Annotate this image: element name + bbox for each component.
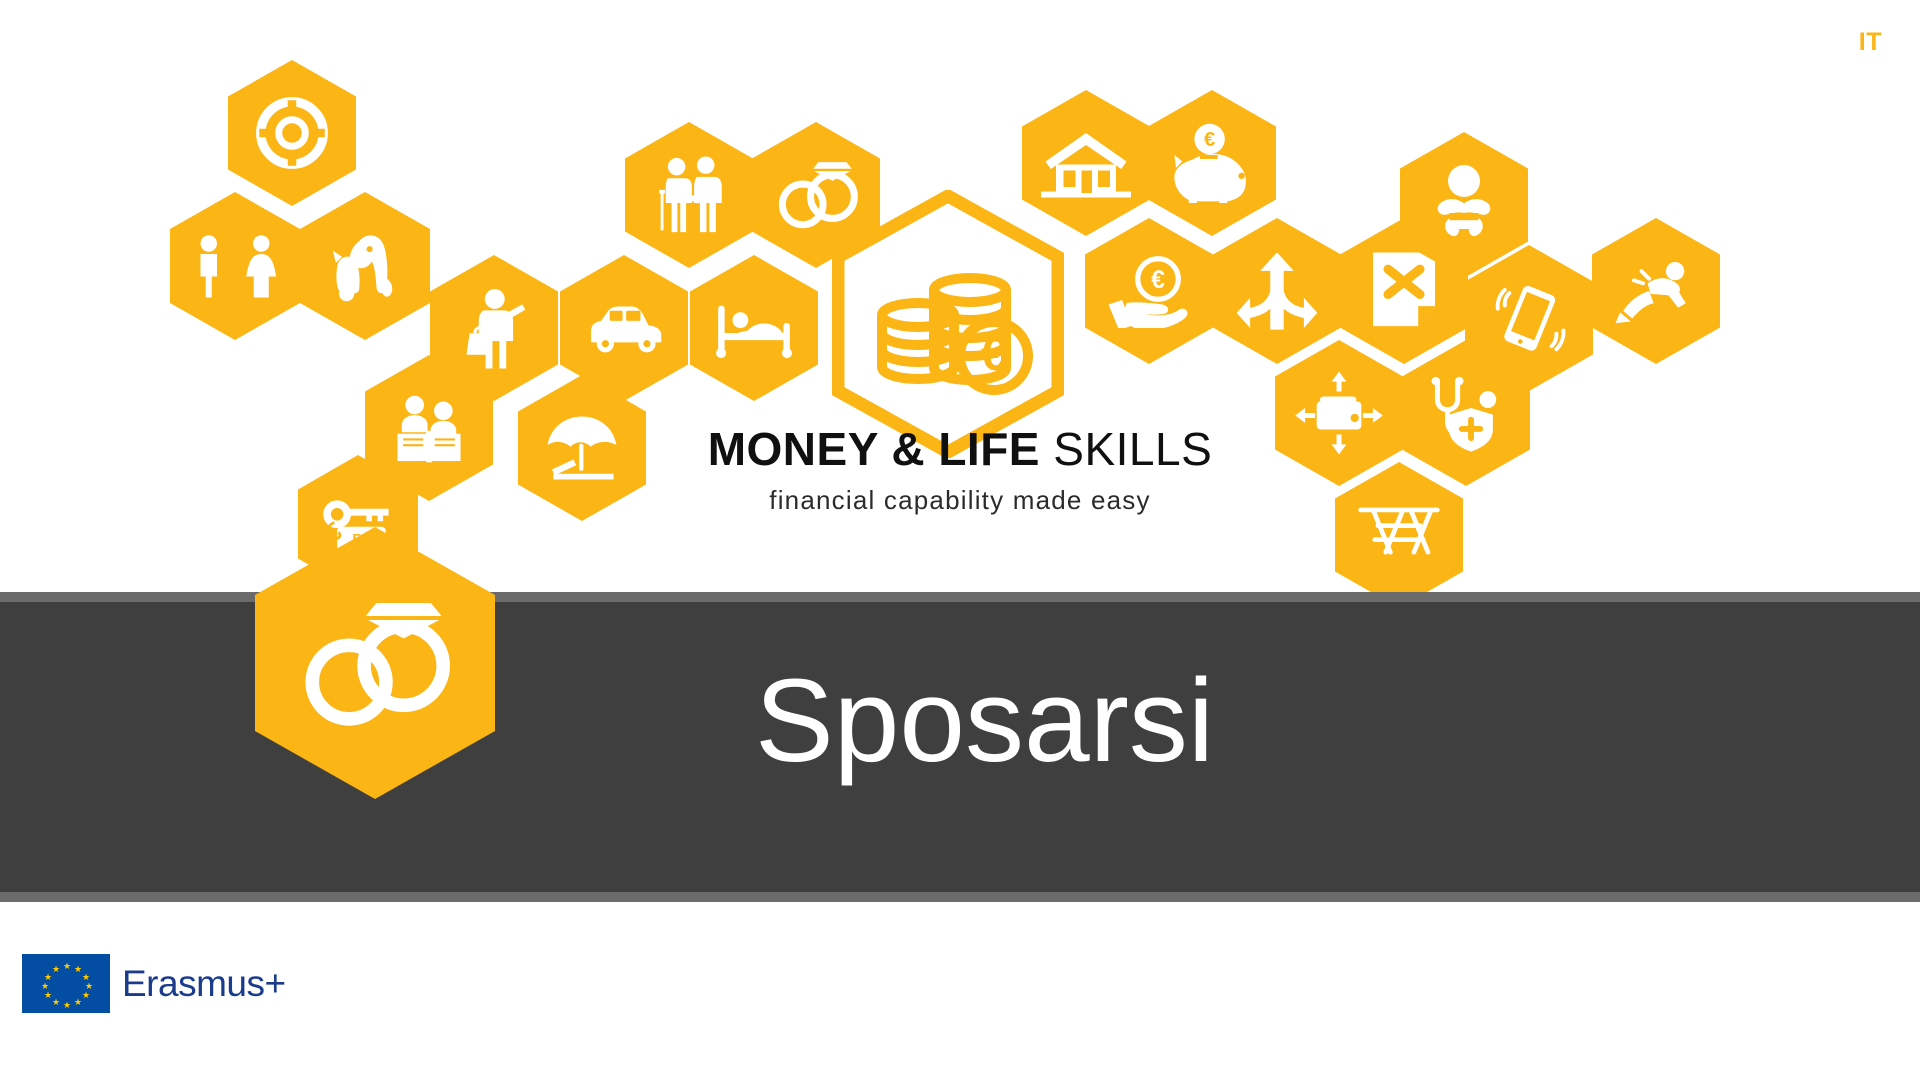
pets-icon bbox=[319, 227, 411, 305]
svg-text:€: € bbox=[1204, 129, 1215, 151]
coin-stacks-euro-icon: € bbox=[832, 190, 1064, 458]
hexagon-lifebuoy bbox=[228, 60, 356, 206]
svg-text:€: € bbox=[1151, 267, 1165, 294]
hexagon-divorce bbox=[170, 192, 300, 340]
brand-subtitle: financial capability made easy bbox=[0, 485, 1920, 516]
brand-title-light: SKILLS bbox=[1040, 423, 1212, 475]
mobile-phone-icon bbox=[1486, 278, 1572, 358]
baby-icon bbox=[1424, 163, 1504, 247]
eu-flag-icon: ★ ★ ★ ★ ★ ★ ★ ★ ★ ★ ★ ★ bbox=[22, 954, 110, 1013]
car-icon bbox=[581, 298, 667, 358]
hexagon-elderly-couple bbox=[625, 122, 753, 268]
erasmus-label: Erasmus+ bbox=[122, 963, 286, 1005]
bed-patient-icon bbox=[711, 295, 797, 361]
hexagon-money-center: € bbox=[832, 190, 1064, 458]
brand-title-bold: MONEY & LIFE bbox=[708, 423, 1040, 475]
erasmus-logo: ★ ★ ★ ★ ★ ★ ★ ★ ★ ★ ★ ★ Erasmus+ bbox=[22, 954, 286, 1013]
document-x-icon bbox=[1368, 249, 1440, 333]
lifebuoy-icon bbox=[253, 94, 331, 172]
falling-person-icon bbox=[1614, 254, 1698, 328]
brand-title: MONEY & LIFE SKILLS bbox=[708, 425, 1213, 473]
title-banner: Sposarsi bbox=[0, 592, 1920, 902]
hexagon-income: € bbox=[1085, 218, 1213, 364]
direction-arrows-icon bbox=[1235, 249, 1319, 333]
piggy-bank-euro-icon: € bbox=[1168, 123, 1256, 203]
hexagon-pets bbox=[300, 192, 430, 340]
elderly-couple-icon bbox=[649, 153, 729, 237]
slide-title: Sposarsi bbox=[755, 662, 1214, 780]
svg-text:€: € bbox=[981, 328, 1008, 381]
hexagon-savings: € bbox=[1148, 90, 1276, 236]
brand-logo: MONEY & LIFE SKILLS financial capability… bbox=[0, 425, 1920, 516]
hand-euro-coin-icon: € bbox=[1104, 254, 1194, 328]
shopping-person-icon bbox=[459, 286, 529, 370]
house-icon bbox=[1041, 127, 1131, 199]
wedding-rings-icon bbox=[300, 591, 450, 735]
divorce-icon bbox=[190, 227, 280, 305]
hexagon-accident bbox=[1592, 218, 1720, 364]
hexagon-choices bbox=[1213, 218, 1341, 364]
hexagon-illness bbox=[690, 255, 818, 401]
footer: ★ ★ ★ ★ ★ ★ ★ ★ ★ ★ ★ ★ Erasmus+ Il sost… bbox=[0, 930, 1920, 1080]
